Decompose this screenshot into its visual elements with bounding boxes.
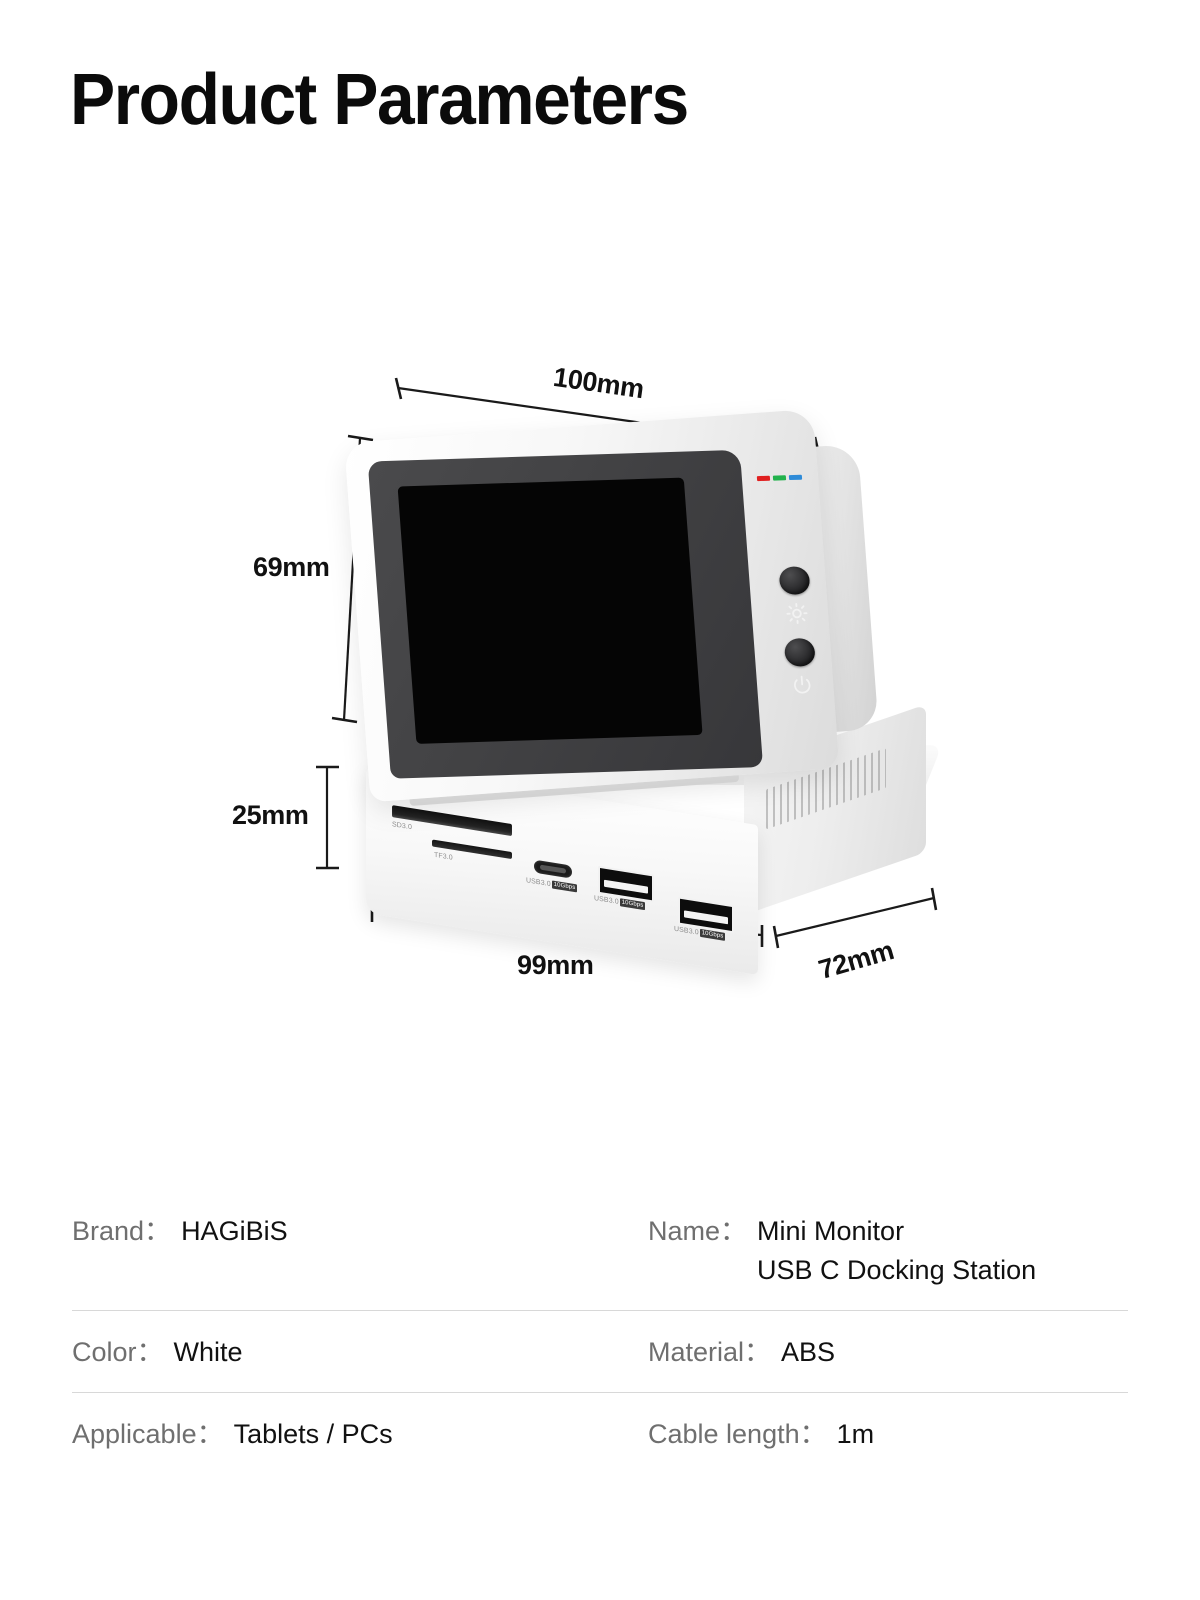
dimension-label-height-monitor: 69mm — [253, 552, 329, 583]
spec-label-applicable: Applicable： — [72, 1415, 224, 1454]
usb-c-label-text: USB3.0 — [526, 877, 551, 888]
spec-label-material: Material： — [648, 1333, 771, 1372]
spec-label-name: Name： — [648, 1212, 747, 1251]
monitor-screen — [398, 478, 703, 744]
spec-cell-material: Material： ABS — [600, 1333, 1128, 1372]
spec-value-brand: HAGiBiS — [181, 1212, 288, 1251]
spec-cell-name: Name： Mini Monitor USB C Docking Station — [600, 1212, 1128, 1290]
spec-cell-cable-length: Cable length： 1m — [600, 1415, 1128, 1454]
usb-c-port — [534, 860, 572, 879]
spec-table: Brand： HAGiBiS Name： Mini Monitor USB C … — [72, 1190, 1128, 1475]
sd-port-label: SD3.0 — [392, 821, 412, 831]
mini-monitor — [344, 409, 839, 802]
usb-c-port-label: USB3.010Gbps — [526, 876, 577, 892]
dimension-label-height-dock: 25mm — [232, 800, 308, 831]
usb-c-speed-badge: 10Gbps — [552, 880, 578, 892]
spec-label-color: Color： — [72, 1333, 164, 1372]
usb-a1-label-text: USB3.0 — [594, 895, 619, 906]
page-title: Product Parameters — [70, 64, 688, 136]
led-green-icon — [773, 475, 786, 480]
spec-value-name: Mini Monitor USB C Docking Station — [757, 1212, 1036, 1290]
sun-icon — [785, 602, 809, 625]
spec-label-cable-length: Cable length： — [648, 1415, 827, 1454]
usb-a2-label-text: USB3.0 — [674, 926, 699, 937]
spec-row-color-material: Color： White Material： ABS — [72, 1310, 1128, 1392]
dimension-label-width-top: 100mm — [551, 362, 646, 405]
spec-cell-color: Color： White — [72, 1333, 600, 1372]
spec-value-material: ABS — [781, 1333, 835, 1372]
spec-cell-brand: Brand： HAGiBiS — [72, 1212, 600, 1251]
spec-row-brand-name: Brand： HAGiBiS Name： Mini Monitor USB C … — [72, 1190, 1128, 1310]
led-red-icon — [757, 476, 770, 481]
sd-port-label-text: SD3.0 — [392, 821, 412, 831]
spec-label-brand: Brand： — [72, 1212, 171, 1251]
sd-card-slot — [392, 805, 512, 836]
spec-cell-applicable: Applicable： Tablets / PCs — [72, 1415, 600, 1454]
tf-port-label-text: TF3.0 — [434, 852, 453, 862]
led-blue-icon — [789, 475, 802, 480]
spec-value-applicable: Tablets / PCs — [234, 1415, 393, 1454]
dimension-label-width-dock: 99mm — [517, 950, 593, 981]
spec-value-cable-length: 1m — [837, 1415, 875, 1454]
monitor-bezel — [368, 450, 763, 779]
tf-port-label: TF3.0 — [434, 852, 453, 862]
product-illustration: 100mm 69mm 25mm 99mm 72mm SD3.0 TF3.0 US… — [0, 330, 1200, 1050]
spec-value-color: White — [174, 1333, 243, 1372]
spec-row-applicable-cable: Applicable： Tablets / PCs Cable length： … — [72, 1392, 1128, 1474]
power-icon — [790, 674, 814, 697]
